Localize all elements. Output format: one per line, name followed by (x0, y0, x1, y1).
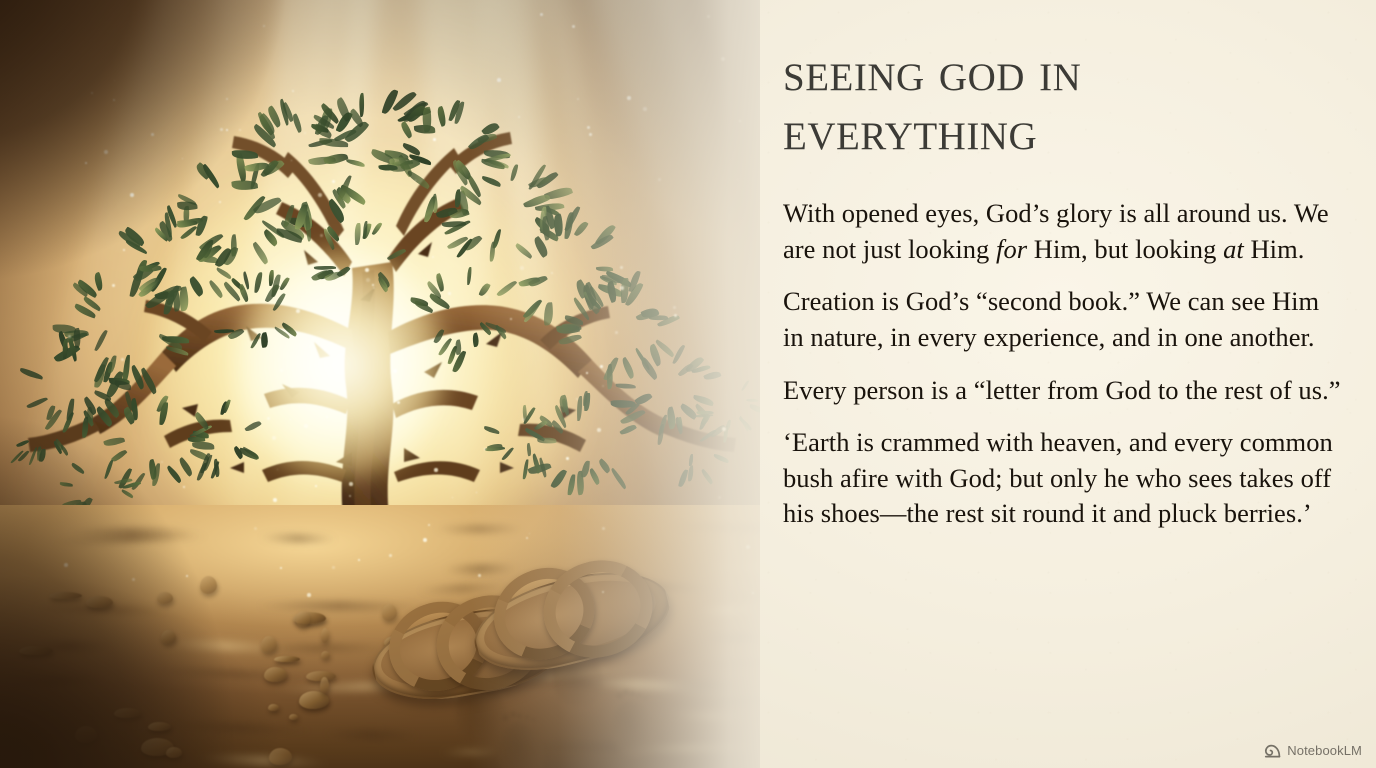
corner-vignette (0, 0, 800, 768)
burning-bush-illustration (0, 0, 800, 768)
paragraph-3: Every person is a “letter from God to th… (783, 373, 1343, 409)
paragraph-4: ‘Earth is crammed with heaven, and every… (783, 425, 1343, 532)
page-title: Seeing God in Everything (783, 42, 1323, 161)
notebooklm-icon (1264, 744, 1281, 758)
slide-canvas: Seeing God in Everything With opened eye… (0, 0, 1376, 768)
paragraph-1: With opened eyes, God’s glory is all aro… (783, 196, 1343, 267)
text-panel: Seeing God in Everything With opened eye… (760, 0, 1376, 768)
paragraph-2: Creation is God’s “second book.” We can … (783, 284, 1343, 355)
notebooklm-watermark: NotebookLM (1264, 743, 1362, 758)
watermark-label: NotebookLM (1287, 743, 1362, 758)
body-copy: With opened eyes, God’s glory is all aro… (783, 196, 1343, 532)
